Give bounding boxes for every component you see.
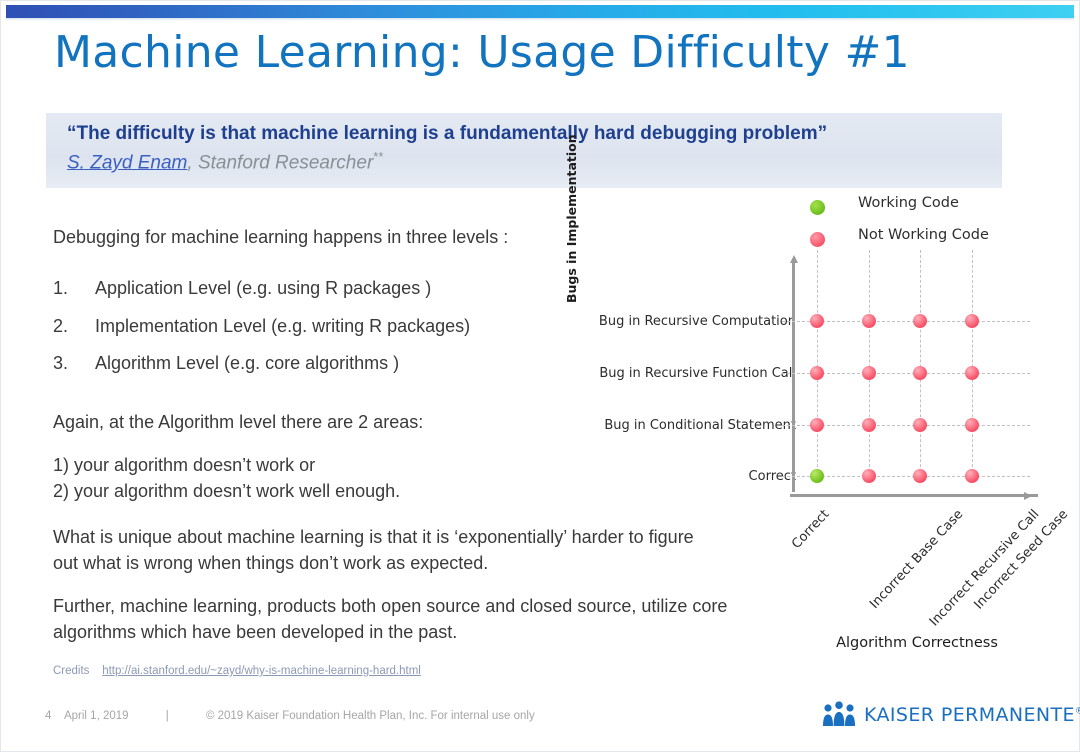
legend-marker-red-dot-icon (810, 232, 825, 247)
paragraph-areas: 1) your algorithm doesn’t work or 2) you… (53, 452, 553, 504)
data-point (810, 418, 824, 432)
quote-author-role: Stanford Researcher (198, 152, 373, 173)
top-accent-bar (6, 5, 1074, 18)
data-point (913, 418, 927, 432)
footer: 4 April 1, 2019 | © 2019 Kaiser Foundati… (45, 710, 535, 722)
data-point (862, 469, 876, 483)
legend-label: Working Code (858, 195, 959, 211)
x-axis-tick-labels: Correct Incorrect Base Case Incorrect Re… (792, 495, 1062, 615)
list-item-number: 3. (53, 352, 68, 375)
levels-list: 1. Application Level (e.g. using R packa… (53, 277, 553, 390)
list-item: 3. Algorithm Level (e.g. core algorithms… (53, 352, 553, 375)
y-axis-line (792, 262, 795, 492)
chart-plot-area (792, 270, 1024, 492)
paragraph-again: Again, at the Algorithm level there are … (53, 409, 553, 435)
legend-label: Not Working Code (858, 227, 989, 243)
people-icon (820, 701, 858, 732)
y-axis-tick-labels: Bug in Recursive Computation Bug in Recu… (570, 195, 796, 515)
footer-copyright: © 2019 Kaiser Foundation Health Plan, In… (206, 710, 535, 722)
data-point (862, 366, 876, 380)
data-point (965, 418, 979, 432)
scatter-chart: Working Code Not Working Code Bugs in Im… (560, 195, 1060, 665)
footer-page-number: 4 (45, 710, 61, 722)
logo-text: KAISER PERMANENTE® (864, 704, 1080, 726)
data-point (913, 366, 927, 380)
list-item-label: Application Level (e.g. using R packages… (95, 278, 431, 298)
footer-date: April 1, 2019 (64, 710, 129, 722)
list-item-number: 1. (53, 277, 68, 300)
list-item-label: Implementation Level (e.g. writing R pac… (95, 316, 470, 336)
list-item: 2. Implementation Level (e.g. writing R … (53, 315, 553, 338)
y-axis-arrow-icon (790, 255, 798, 263)
list-item-label: Algorithm Level (e.g. core algorithms ) (95, 353, 399, 373)
y-tick-label: Bug in Recursive Computation (576, 314, 796, 329)
slide: Machine Learning: Usage Difficulty #1 “T… (0, 0, 1080, 752)
list-item: 1. Application Level (e.g. using R packa… (53, 277, 553, 300)
quote-footnote-marker: ** (373, 149, 383, 164)
logo-wordmark: KAISER PERMANENTE (864, 704, 1075, 726)
y-tick-label: Bug in Conditional Statement (576, 418, 796, 433)
x-tick-label: Correct (789, 507, 832, 552)
credits: Credits http://ai.stanford.edu/~zayd/why… (53, 665, 421, 677)
quote-text: “The difficulty is that machine learning… (67, 123, 827, 145)
x-axis-title: Algorithm Correctness (792, 635, 1042, 651)
data-point (913, 314, 927, 328)
quote-callout: “The difficulty is that machine learning… (46, 113, 1002, 188)
data-point (862, 314, 876, 328)
data-point (862, 418, 876, 432)
top-accent-bar-shadow (6, 18, 1074, 21)
data-point (965, 314, 979, 328)
quote-author-link[interactable]: S. Zayd Enam (67, 152, 187, 173)
footer-separator: | (132, 710, 203, 722)
paragraph-intro: Debugging for machine learning happens i… (53, 224, 523, 250)
legend-marker-green-dot-icon (810, 200, 825, 215)
quote-author-separator: , (187, 152, 192, 173)
data-point (913, 469, 927, 483)
credits-url-link[interactable]: http://ai.stanford.edu/~zayd/why-is-mach… (102, 665, 421, 677)
page-title: Machine Learning: Usage Difficulty #1 (54, 27, 954, 78)
y-tick-label: Correct (576, 469, 796, 484)
list-item-number: 2. (53, 315, 68, 338)
data-point (965, 469, 979, 483)
y-tick-label: Bug in Recursive Function Call (576, 366, 796, 381)
data-point (965, 366, 979, 380)
data-point (810, 366, 824, 380)
registered-mark: ® (1075, 707, 1080, 717)
data-point (810, 314, 824, 328)
quote-attribution: S. Zayd Enam, Stanford Researcher** (67, 149, 383, 174)
credits-label: Credits (53, 665, 89, 677)
data-point (810, 469, 824, 483)
